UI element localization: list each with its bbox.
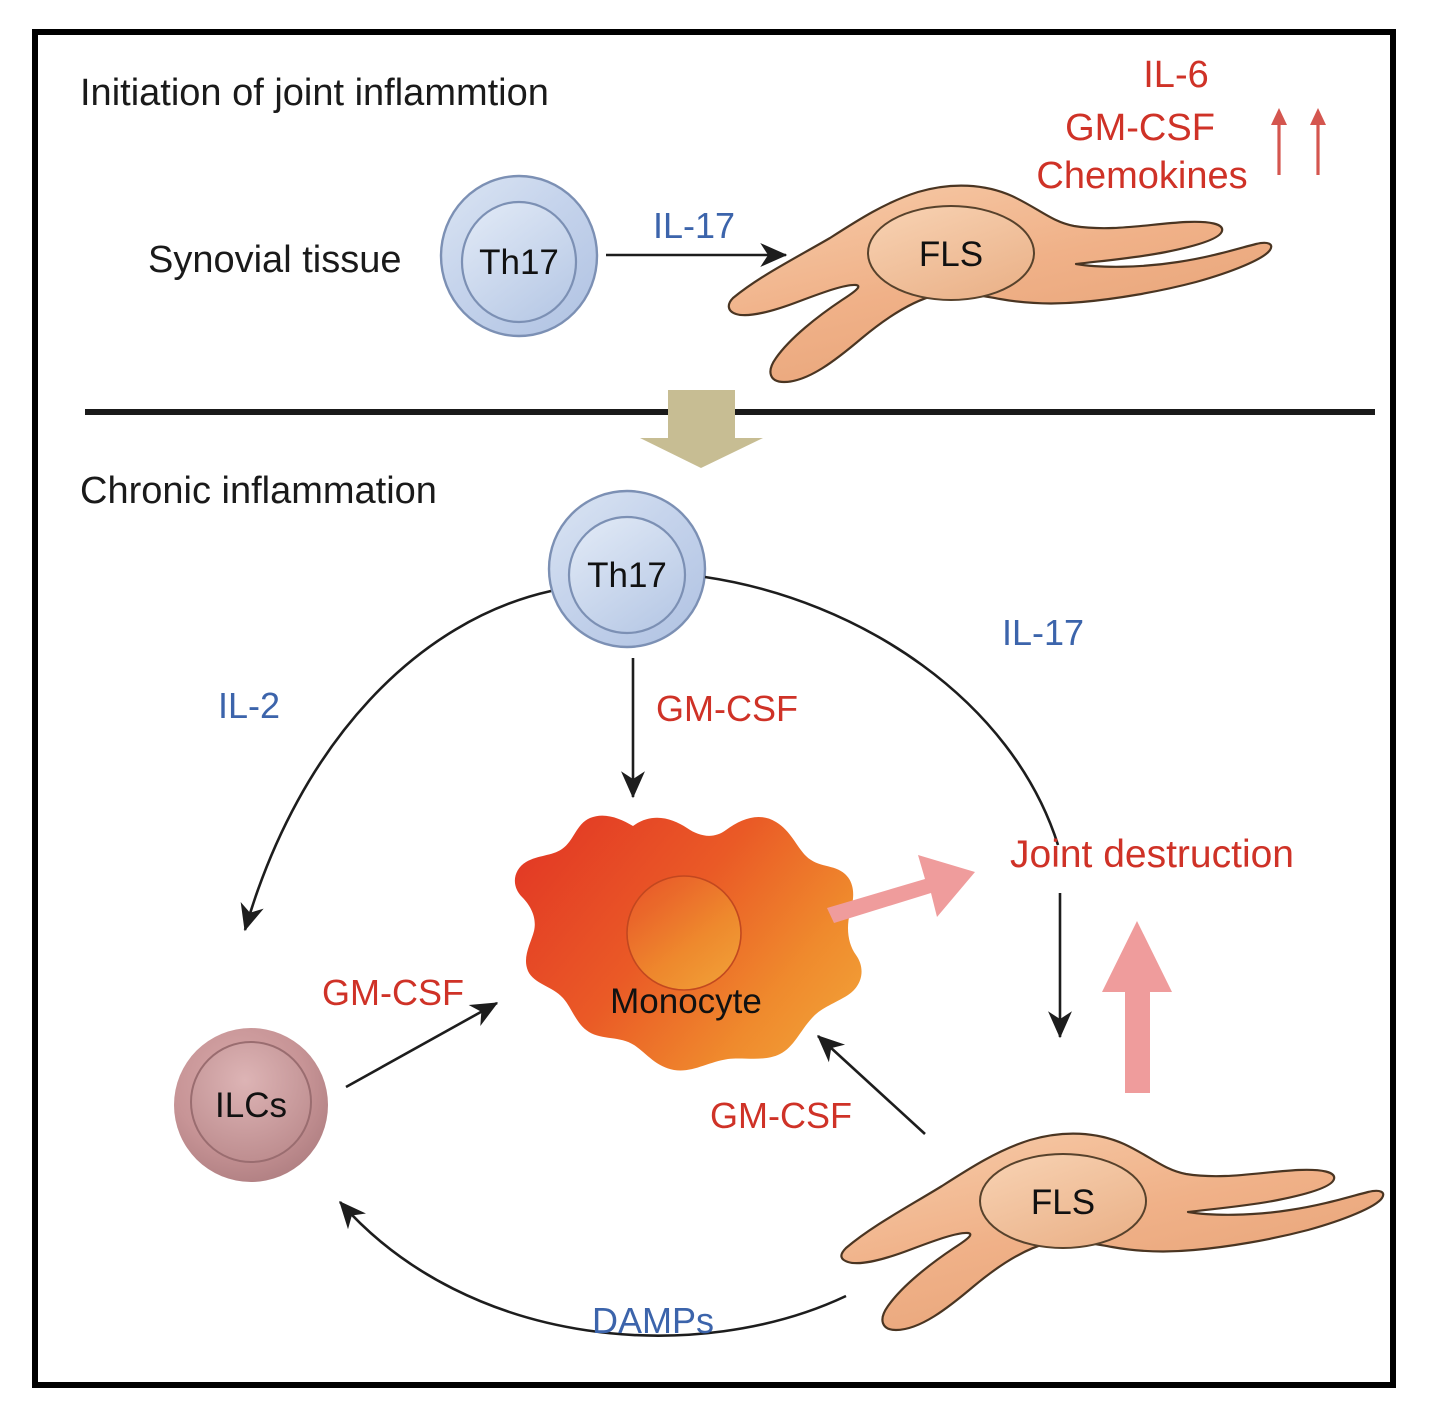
cell-ilcs: ILCs (174, 1028, 328, 1182)
cell-fls-bottom-label: FLS (1031, 1183, 1095, 1222)
synovial-tissue-label: Synovial tissue (148, 239, 401, 281)
factor-il6: IL-6 (1143, 54, 1208, 96)
edge-il2-label: IL-2 (218, 685, 280, 726)
edge-il17-top-label: IL-17 (653, 205, 735, 246)
bottom-panel-heading: Chronic inflammation (80, 470, 437, 512)
edge-gmcsf-th17-label: GM-CSF (656, 688, 798, 729)
figure-root: Initiation of joint inflammtion Synovial… (0, 0, 1440, 1428)
edge-damps-label: DAMPs (592, 1300, 714, 1341)
edge-gmcsf-ilcs-label: GM-CSF (322, 972, 464, 1013)
cell-th17-bottom: Th17 (549, 491, 705, 647)
cell-th17-top-label: Th17 (479, 243, 559, 282)
cell-ilcs-label: ILCs (215, 1086, 287, 1125)
joint-destruction-label: Joint destruction (1010, 833, 1294, 876)
factor-gmcsf: GM-CSF (1065, 107, 1215, 149)
pathway-diagram: Initiation of joint inflammtion Synovial… (0, 0, 1440, 1428)
cell-th17-top: Th17 (441, 176, 597, 336)
top-panel-heading: Initiation of joint inflammtion (80, 72, 549, 114)
cell-th17-bottom-label: Th17 (587, 556, 667, 595)
edge-gmcsf-fls-label: GM-CSF (710, 1095, 852, 1136)
cell-fls-top-label: FLS (919, 235, 983, 274)
factor-chemokines: Chemokines (1036, 155, 1247, 197)
cell-monocyte-label: Monocyte (610, 982, 762, 1021)
edge-il17-bottom-label: IL-17 (1002, 612, 1084, 653)
